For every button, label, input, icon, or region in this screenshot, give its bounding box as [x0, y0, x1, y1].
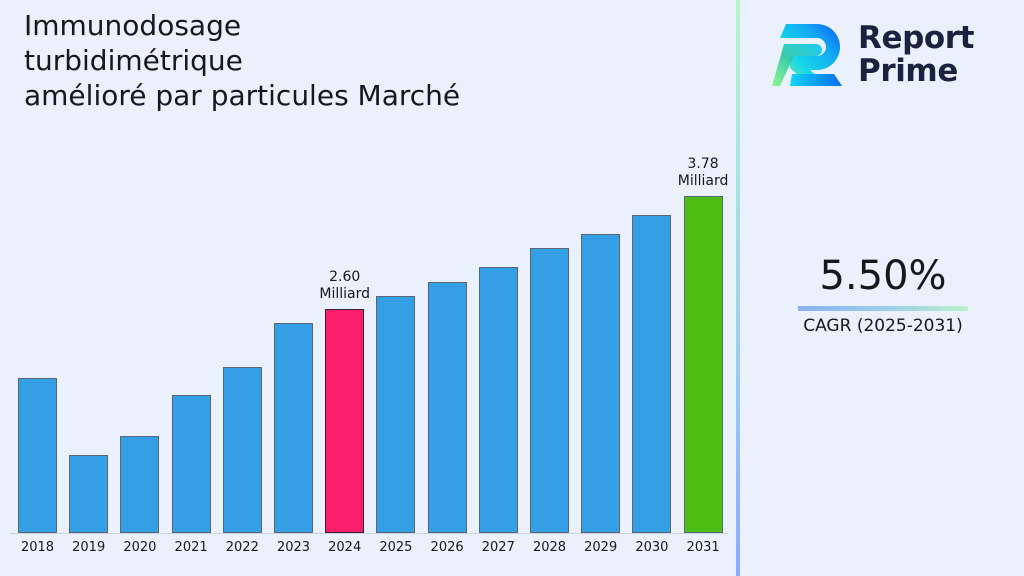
bar-2023	[274, 323, 313, 533]
bar-2019	[69, 455, 108, 533]
bar-value-label-2031: 3.78 Milliard	[658, 156, 748, 190]
bar-2031	[684, 196, 723, 533]
chart-panel: Immunodosage turbidimétrique amélioré pa…	[0, 0, 738, 576]
report-prime-logo-icon	[772, 18, 848, 92]
bar-2030	[632, 215, 671, 533]
bar-value-label-2024: 2.60 Milliard	[300, 269, 390, 303]
brand-panel: Report Prime 5.50% CAGR (2025-2031)	[742, 0, 1024, 576]
bar-2024	[325, 309, 364, 533]
brand-name: Report Prime	[858, 22, 974, 88]
bar-2025	[376, 296, 415, 533]
cagr-value: 5.50%	[742, 252, 1024, 300]
bar-2021	[172, 395, 211, 533]
bar-2028	[530, 248, 569, 533]
cagr-divider	[798, 306, 968, 311]
bar-2029	[581, 234, 620, 533]
panel-divider	[736, 0, 740, 576]
cagr-block: 5.50% CAGR (2025-2031)	[742, 252, 1024, 337]
bar-2020	[120, 436, 159, 533]
cagr-caption: CAGR (2025-2031)	[742, 315, 1024, 337]
bar-2018	[18, 378, 57, 533]
tick-label-2031: 2031	[673, 540, 733, 555]
chart-page: Immunodosage turbidimétrique amélioré pa…	[0, 0, 1024, 576]
bar-2027	[479, 267, 518, 533]
bar-2022	[223, 367, 262, 533]
x-axis-line	[10, 533, 728, 534]
plot-area: 2.60 Milliard3.78 Milliard 2018201920202…	[0, 0, 738, 576]
brand-logo: Report Prime	[772, 12, 1022, 98]
bar-2026	[428, 282, 467, 533]
